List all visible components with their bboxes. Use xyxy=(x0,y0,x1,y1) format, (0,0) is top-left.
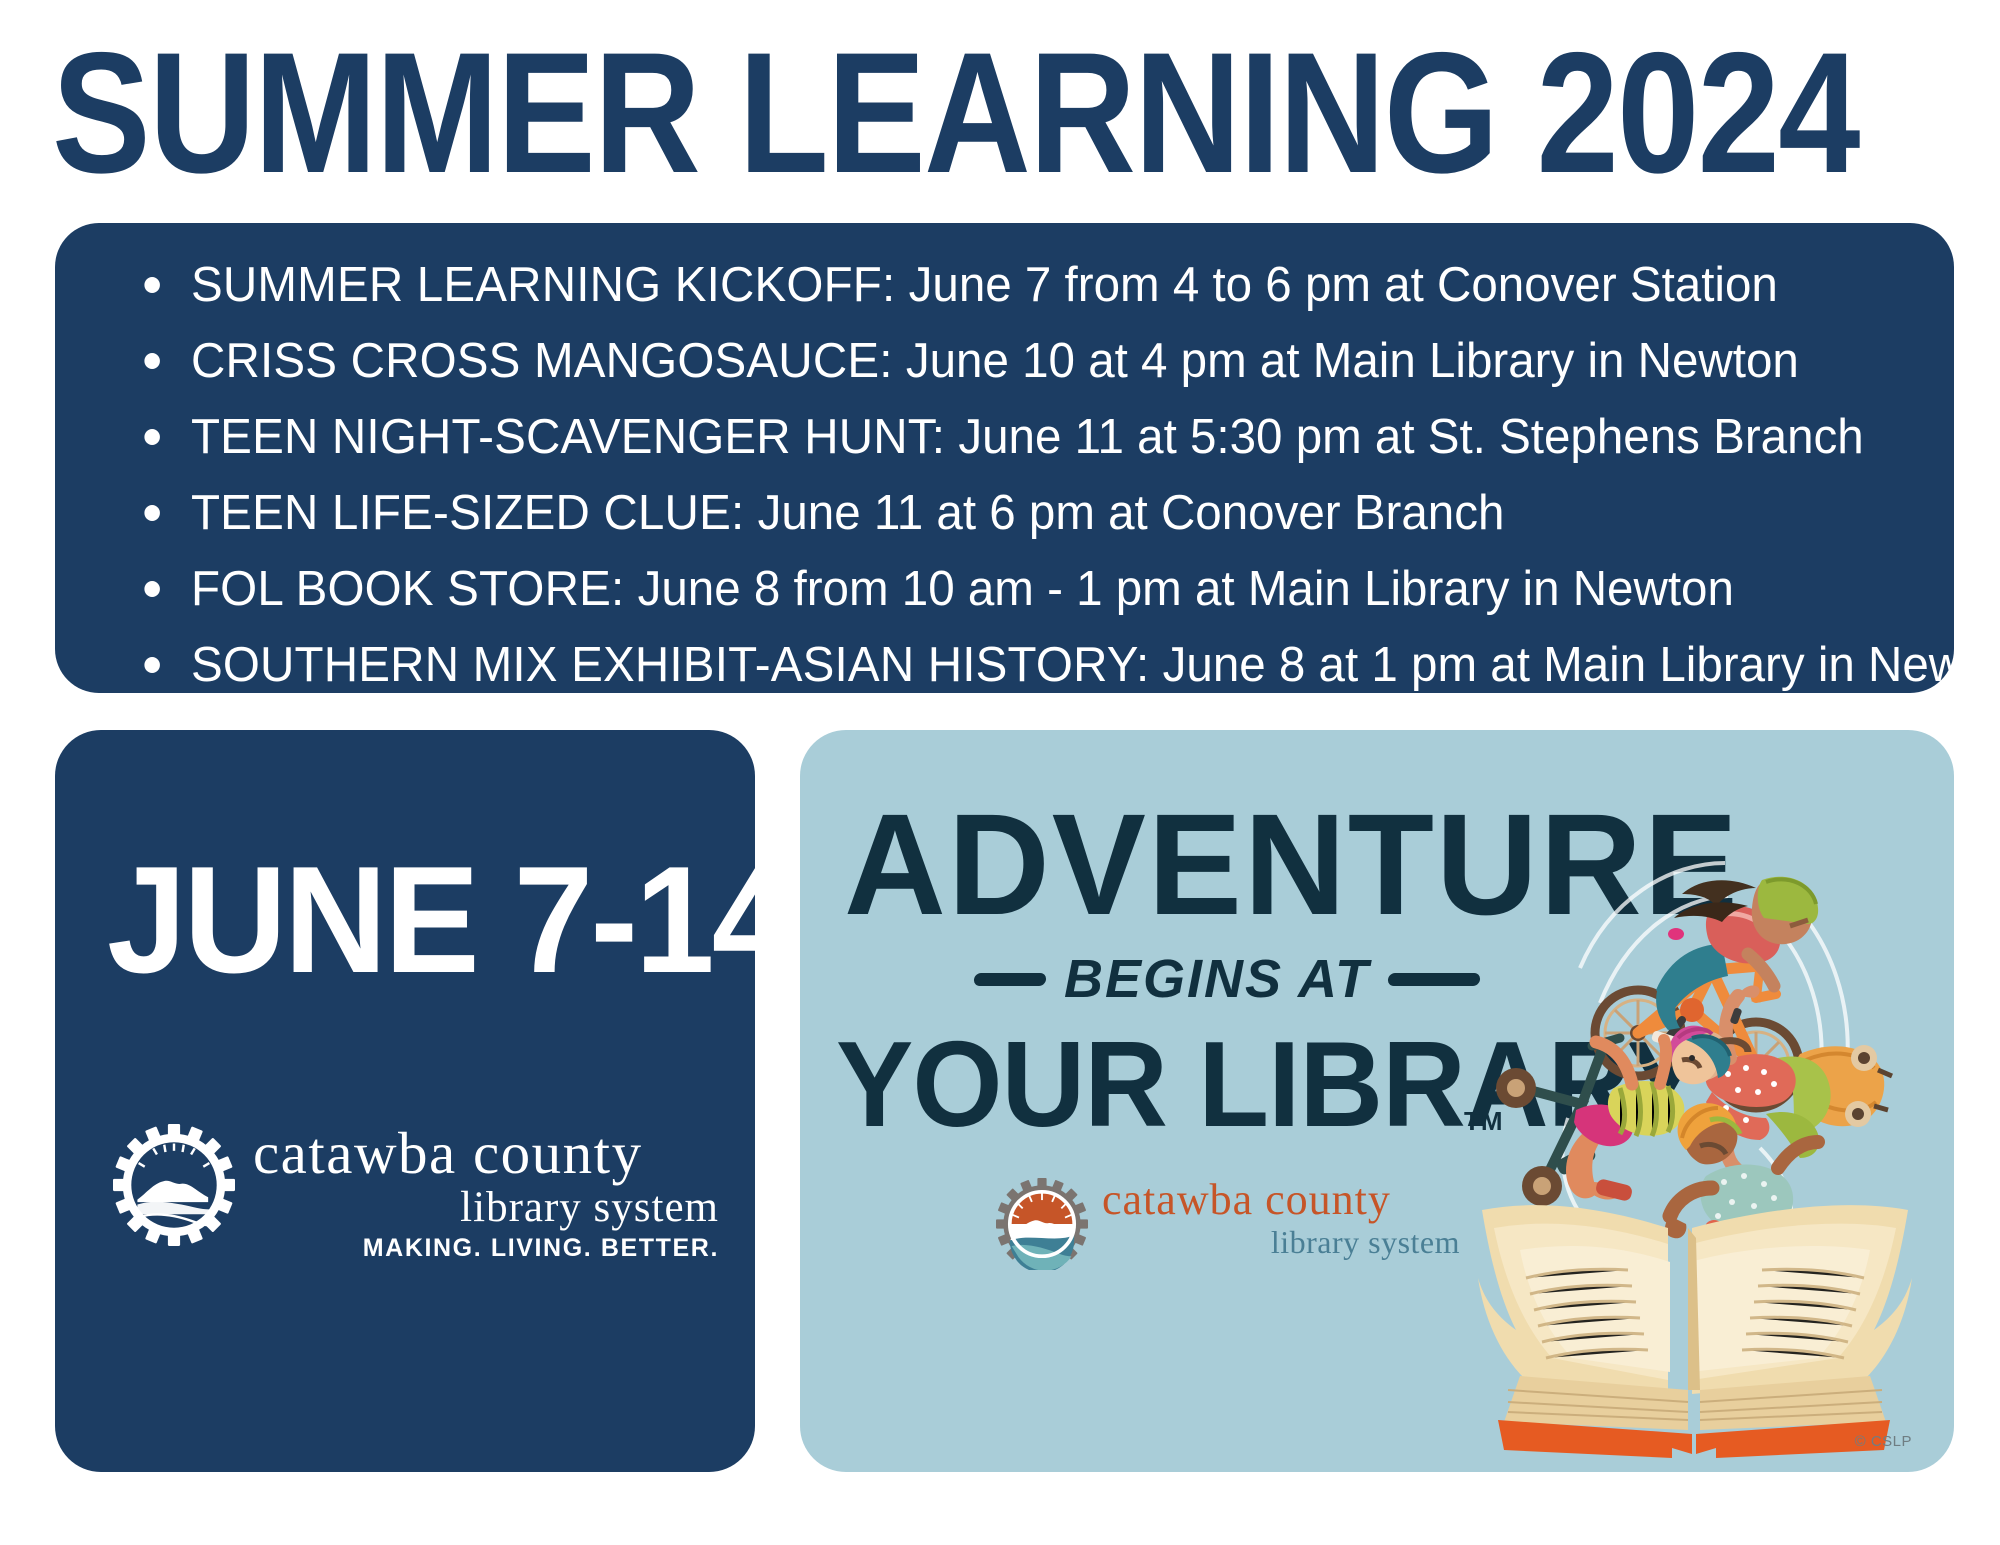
gear-mountain-logo-icon xyxy=(996,1178,1088,1270)
open-book-adventurers-illustration: © CSLP xyxy=(1460,758,1930,1458)
event-name: SOUTHERN MIX EXHIBIT-ASIAN HISTORY: xyxy=(191,638,1149,692)
poster-subhead-row: BEGINS AT xyxy=(890,948,1480,1010)
logo-wordmark: catawba county library system MAKING. LI… xyxy=(253,1122,723,1264)
logo-wordmark: catawba county library system xyxy=(1102,1176,1462,1260)
logo-system-text: library system xyxy=(253,1184,723,1232)
poster-subhead-begins-at: BEGINS AT xyxy=(1064,948,1370,1010)
cslp-poster: ADVENTURE BEGINS AT YOUR LIBRARY TM xyxy=(800,730,1954,1472)
logo-county-text: catawba county xyxy=(253,1122,723,1184)
list-item: FOL BOOK STORE: June 8 from 10 am - 1 pm… xyxy=(125,551,1874,627)
logo-system-text: library system xyxy=(1102,1224,1462,1260)
bullet-icon xyxy=(144,353,160,369)
event-name: FOL BOOK STORE: xyxy=(191,562,624,616)
poster-headline-row: YOUR LIBRARY TM xyxy=(836,1020,1496,1150)
bullet-icon xyxy=(144,581,160,597)
bullet-icon xyxy=(144,505,160,521)
bullet-icon xyxy=(144,429,160,445)
event-details: June 10 at 4 pm at Main Library in Newto… xyxy=(893,334,1799,388)
list-item: SUMMER LEARNING KICKOFF: June 7 from 4 t… xyxy=(125,247,1874,323)
list-item: TEEN NIGHT-SCAVENGER HUNT: June 11 at 5:… xyxy=(125,399,1874,475)
event-details: June 7 from 4 to 6 pm at Conover Station xyxy=(895,258,1777,312)
logo-tagline: MAKING. LIVING. BETTER. xyxy=(253,1232,723,1264)
list-item: SOUTHERN MIX EXHIBIT-ASIAN HISTORY: June… xyxy=(125,627,1874,703)
svg-text:© CSLP: © CSLP xyxy=(1855,1433,1912,1450)
dash-left-icon xyxy=(973,973,1046,986)
logo-county-text: catawba county xyxy=(1102,1176,1462,1224)
events-panel: SUMMER LEARNING KICKOFF: June 7 from 4 t… xyxy=(55,223,1954,693)
poster-text-block: ADVENTURE BEGINS AT YOUR LIBRARY TM xyxy=(830,770,1490,1440)
event-details: June 11 at 6 pm at Conover Branch xyxy=(744,486,1504,540)
event-name: TEEN NIGHT-SCAVENGER HUNT: xyxy=(191,410,945,464)
catawba-library-logo-white: catawba county library system MAKING. LI… xyxy=(113,1112,733,1302)
poster-headline-adventure: ADVENTURE xyxy=(844,790,1471,940)
event-name: CRISS CROSS MANGOSAUCE: xyxy=(191,334,893,388)
date-range: JUNE 7-14 xyxy=(107,840,690,1000)
event-details: June 8 from 10 am - 1 pm at Main Library… xyxy=(624,562,1734,616)
event-details: June 11 at 5:30 pm at St. Stephens Branc… xyxy=(945,410,1864,464)
bullet-icon xyxy=(144,657,160,673)
date-panel: JUNE 7-14 xyxy=(55,730,755,1472)
event-name: TEEN LIFE-SIZED CLUE: xyxy=(191,486,744,540)
events-list: SUMMER LEARNING KICKOFF: June 7 from 4 t… xyxy=(125,247,1928,703)
event-details: June 8 at 1 pm at Main Library in Newton xyxy=(1149,638,2000,692)
list-item: CRISS CROSS MANGOSAUCE: June 10 at 4 pm … xyxy=(125,323,1874,399)
catawba-library-logo-color: catawba county library system xyxy=(996,1170,1466,1280)
bullet-icon xyxy=(144,277,160,293)
gear-mountain-logo-icon xyxy=(113,1124,235,1246)
event-name: SUMMER LEARNING KICKOFF: xyxy=(191,258,895,312)
page-title: SUMMER LEARNING 2024 xyxy=(52,28,1686,198)
list-item: TEEN LIFE-SIZED CLUE: June 11 at 6 pm at… xyxy=(125,475,1874,551)
